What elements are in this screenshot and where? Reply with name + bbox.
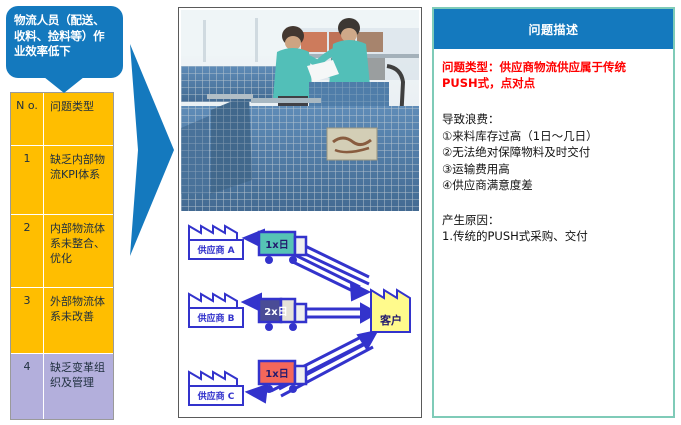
svg-text:供应商 A: 供应商 A <box>196 244 234 256</box>
table-header-row: N o. 问题类型 <box>11 93 113 146</box>
table-header-type: 问题类型 <box>44 93 113 145</box>
table-row[interactable]: 3 外部物流体 系未改善 <box>11 288 113 354</box>
table-cell-no: 3 <box>11 288 44 353</box>
truck-b: 2x日 <box>259 299 306 331</box>
svg-text:1x日: 1x日 <box>265 368 288 380</box>
callout-box: 物流人员（配送、 收料、捡料等）作 业效率低下 <box>6 6 123 78</box>
waste-list-text: 导致浪费： ①来料库存过高（1日～几日） ②无法绝对保障物料及时交付 ③运输费用… <box>442 111 665 194</box>
table-cell-type: 缺乏变革组 织及管理 <box>44 354 113 419</box>
truck-a: 1x日 <box>259 232 306 264</box>
flow-arrow-icon <box>128 44 180 256</box>
table-cell-type: 外部物流体 系未改善 <box>44 288 113 353</box>
issue-description-header: 问题描述 <box>434 9 673 49</box>
issue-type-text: 问题类型：供应商物流供应属于传统 PUSH式，点对点 <box>442 59 665 91</box>
table-row-highlighted[interactable]: 4 缺乏变革组 织及管理 <box>11 354 113 419</box>
supply-flow-diagram: 供应商 A 1x日 供应商 B 2x日 供应商 C <box>181 214 419 417</box>
table-cell-no: 2 <box>11 215 44 287</box>
svg-text:供应商 B: 供应商 B <box>197 312 235 324</box>
callout-pointer <box>44 77 84 93</box>
svg-text:1x日: 1x日 <box>265 239 288 251</box>
table-cell-type: 内部物流体 系未整合、 优化 <box>44 215 113 287</box>
table-cell-type: 缺乏内部物 流KPI体系 <box>44 146 113 214</box>
warehouse-photo <box>181 10 419 211</box>
issue-type-table: N o. 问题类型 1 缺乏内部物 流KPI体系 2 内部物流体 系未整合、 优… <box>10 92 114 420</box>
issue-description-panel: 问题描述 问题类型：供应商物流供应属于传统 PUSH式，点对点 导致浪费： ①来… <box>432 7 675 418</box>
table-cell-no: 1 <box>11 146 44 214</box>
issue-description-body: 问题类型：供应商物流供应属于传统 PUSH式，点对点 导致浪费： ①来料库存过高… <box>434 49 673 245</box>
root-cause-text: 产生原因： 1.传统的PUSH式采购、交付 <box>442 212 665 245</box>
callout-text: 物流人员（配送、 收料、捡料等）作 业效率低下 <box>6 6 123 60</box>
svg-text:2x日: 2x日 <box>264 306 287 318</box>
table-row[interactable]: 1 缺乏内部物 流KPI体系 <box>11 146 113 215</box>
table-cell-no: 4 <box>11 354 44 419</box>
issue-description-title: 问题描述 <box>528 21 578 38</box>
svg-text:供应商 C: 供应商 C <box>197 390 235 402</box>
svg-text:客户: 客户 <box>379 313 402 327</box>
table-row[interactable]: 2 内部物流体 系未整合、 优化 <box>11 215 113 288</box>
table-header-no: N o. <box>11 93 44 145</box>
